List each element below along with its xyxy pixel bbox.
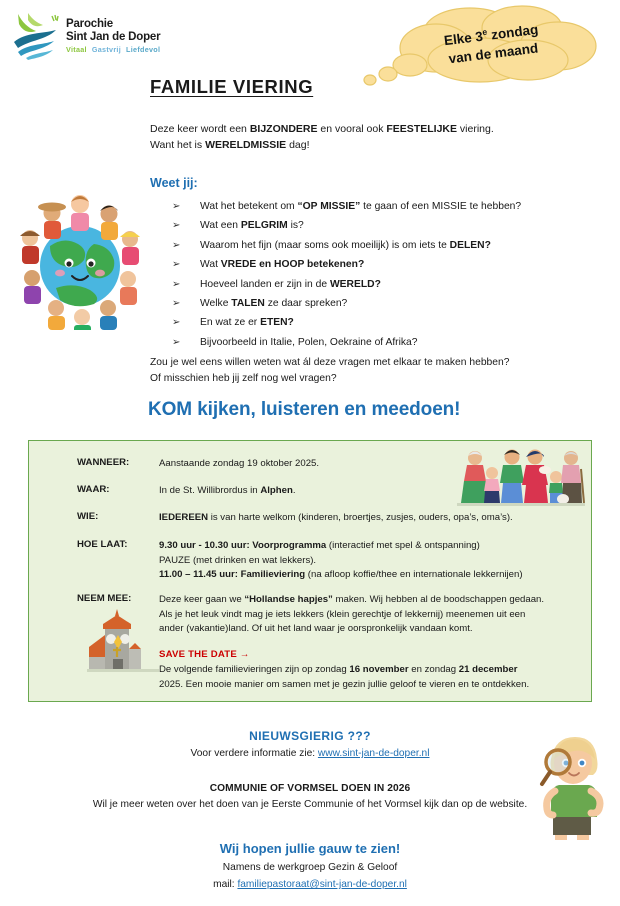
neem-l1-post: maken. Wij hebben al de boodschappen ged… [333, 594, 544, 605]
qpara-line2: Of misschien heb jij zelf nog wel vragen… [150, 373, 337, 384]
time-1-post: (interactief met spel & ontspanning) [326, 540, 480, 551]
value-pre: In de St. Willibrordus in [159, 485, 260, 496]
neem-l1-pre: Deze keer gaan we [159, 594, 244, 605]
intro-l1a: Deze keer wordt een [150, 123, 250, 135]
item-bold: DELEN? [450, 240, 491, 251]
row-value: Deze keer gaan we “Hollandse hapjes” mak… [159, 593, 544, 637]
flyer-page: Parochie Sint Jan de Doper VitaalGastvri… [0, 0, 620, 906]
item-bold: TALEN [231, 298, 265, 309]
value-text: Aanstaande zondag 19 oktober 2025. [159, 458, 319, 469]
time-2-bold: 11.00 – 11.45 uur: Familieviering [159, 569, 305, 580]
weet-jij-heading: Weet jij: [150, 176, 198, 190]
list-item: ➢En wat ze er ETEN? [172, 313, 592, 332]
item-pre: Wat [200, 259, 221, 270]
detail-row-neemmee: NEEM MEE: Deze keer gaan we “Hollandse h… [77, 593, 544, 637]
closing-question-paragraph: Zou je wel eens willen weten wat ál deze… [150, 355, 509, 386]
row-value: Aanstaande zondag 19 oktober 2025. [159, 457, 319, 472]
item-pre: Wat een [200, 220, 241, 231]
intro-l1d: FEESTELIJKE [386, 123, 457, 135]
qpara-line1: Zou je wel eens willen weten wat ál deze… [150, 357, 509, 368]
std-l2: 2025. Een mooie manier om samen met je g… [159, 679, 529, 690]
details-box: WANNEER: Aanstaande zondag 19 oktober 20… [28, 440, 592, 702]
intro-l1b: BIJZONDERE [250, 123, 318, 135]
thought-bubble: Elke 3e zondag van de maand [350, 2, 610, 94]
detail-row-wanneer: WANNEER: Aanstaande zondag 19 oktober 20… [77, 457, 319, 472]
item-post: ze daar spreken? [265, 298, 347, 309]
item-pre: Hoeveel landen er zijn in de [200, 279, 330, 290]
pauze-line: PAUZE (met drinken en wat lekkers). [159, 555, 316, 566]
neem-l1-bold: “Hollandse hapjes” [244, 594, 333, 605]
list-item: ➢Wat VREDE en HOOP betekenen? [172, 255, 592, 274]
row-label: WIE: [77, 511, 159, 526]
logo-tagline: VitaalGastvrijLiefdevol [66, 45, 165, 54]
value-post: is van harte welkom (kinderen, broertjes… [208, 512, 513, 523]
item-post: en HOOP betekenen? [256, 259, 364, 270]
row-value: 9.30 uur - 10.30 uur: Voorprogramma (int… [159, 539, 523, 583]
item-bold: PELGRIM [241, 220, 288, 231]
info-prefix: Voor verdere informatie zie: [191, 748, 318, 759]
neem-l2: Als je het leuk vindt mag je iets lekker… [159, 609, 525, 620]
detail-row-wie: WIE: IEDEREEN is van harte welkom (kinde… [77, 511, 513, 526]
item-bold: ETEN? [260, 317, 294, 328]
arrow-bullet-icon: ➢ [172, 333, 180, 352]
list-item: ➢Wat een PELGRIM is? [172, 216, 592, 235]
intro-l1c: en vooral ook [318, 123, 387, 135]
item-post: te gaan of een MISSIE te hebben? [360, 201, 521, 212]
row-label: WANNEER: [77, 457, 159, 472]
page-title: FAMILIE VIERING [150, 76, 313, 98]
email-link[interactable]: familiepastoraat@sint-jan-de-doper.nl [237, 879, 406, 890]
logo-tag-1: Vitaal [66, 45, 87, 54]
item-post: is? [288, 220, 304, 231]
arrow-bullet-icon: ➢ [172, 236, 180, 255]
item-bold: “OP MISSIE” [298, 201, 361, 212]
arrow-bullet-icon: ➢ [172, 313, 180, 332]
save-the-date-heading: SAVE THE DATE → [159, 649, 529, 660]
arrow-bullet-icon: ➢ [172, 255, 180, 274]
logo-tag-3: Liefdevol [126, 45, 160, 54]
value-post: . [293, 485, 296, 496]
mail-line: mail: familiepastoraat@sint-jan-de-doper… [0, 879, 620, 890]
detail-row-hoelaat: HOE LAAT: 9.30 uur - 10.30 uur: Voorprog… [77, 539, 523, 583]
time-2-post: (na afloop koffie/thee en internationale… [305, 569, 522, 580]
list-item: ➢Waarom het fijn (maar soms ook moeilijk… [172, 236, 592, 255]
namens-line: Namens de werkgroep Gezin & Geloof [0, 862, 620, 873]
value-bold: IEDEREEN [159, 512, 208, 523]
row-label: HOE LAAT: [77, 539, 159, 583]
list-item: ➢Welke TALEN ze daar spreken? [172, 294, 592, 313]
item-pre: Bijvoorbeeld in Italie, Polen, Oekraine … [200, 337, 418, 348]
child-with-magnifier-icon [527, 733, 615, 841]
neem-l3: ander (vakantie)land. Of uit het land wa… [159, 623, 473, 634]
save-the-date-body: De volgende familievieringen zijn op zon… [159, 663, 529, 692]
arrow-bullet-icon: ➢ [172, 197, 180, 216]
bubble-line1-a: Elke 3 [443, 29, 484, 49]
save-the-date-block: SAVE THE DATE → De volgende familievieri… [159, 649, 529, 692]
list-item: ➢Hoeveel landen er zijn in de WERELD? [172, 275, 592, 294]
detail-row-waar: WAAR: In de St. Willibrordus in Alphen. [77, 484, 296, 499]
item-pre: Wat het betekent om [200, 201, 298, 212]
row-label: NEEM MEE: [77, 593, 159, 637]
logo-name-line1: Parochie [66, 18, 165, 31]
arrow-bullet-icon: ➢ [172, 275, 180, 294]
item-pre: En wat ze er [200, 317, 260, 328]
intro-l2c: dag! [286, 139, 309, 151]
value-bold: Alphen [260, 485, 293, 496]
dove-and-water-icon [12, 10, 64, 60]
mail-prefix: mail: [213, 879, 237, 890]
item-bold: VREDE [221, 259, 256, 270]
time-1-bold: 9.30 uur - 10.30 uur: Voorprogramma [159, 540, 326, 551]
globe-with-children-icon [16, 186, 144, 330]
list-item: ➢Wat het betekent om “OP MISSIE” te gaan… [172, 197, 592, 216]
intro-l2b: WERELDMISSIE [205, 139, 286, 151]
row-value: In de St. Willibrordus in Alphen. [159, 484, 296, 499]
family-group-icon [457, 445, 585, 509]
std-l1a: De volgende familievieringen zijn op zon… [159, 664, 349, 675]
std-date2: 21 december [459, 664, 518, 675]
intro-l2a: Want het is [150, 139, 205, 151]
item-pre: Welke [200, 298, 231, 309]
item-bold: WERELD? [330, 279, 381, 290]
logo-name-line2: Sint Jan de Doper [66, 31, 165, 44]
std-date1: 16 november [349, 664, 408, 675]
arrow-bullet-icon: ➢ [172, 216, 180, 235]
row-label: WAAR: [77, 484, 159, 499]
kom-heading: KOM kijken, luisteren en meedoen! [148, 399, 460, 421]
std-l1c: en zondag [409, 664, 459, 675]
arrow-bullet-icon: ➢ [172, 294, 180, 313]
website-link[interactable]: www.sint-jan-de-doper.nl [318, 748, 430, 759]
question-list: ➢Wat het betekent om “OP MISSIE” te gaan… [172, 197, 592, 352]
intro-paragraph: Deze keer wordt een BIJZONDERE en vooral… [150, 122, 494, 153]
parish-logo: Parochie Sint Jan de Doper VitaalGastvri… [12, 8, 162, 66]
row-value: IEDEREEN is van harte welkom (kinderen, … [159, 511, 513, 526]
item-pre: Waarom het fijn (maar soms ook moeilijk)… [200, 240, 450, 251]
intro-l1e: viering. [457, 123, 494, 135]
list-item: ➢Bijvoorbeeld in Italie, Polen, Oekraine… [172, 333, 592, 352]
hope-heading: Wij hopen jullie gauw te zien! [0, 841, 620, 856]
logo-tag-2: Gastvrij [92, 45, 121, 54]
